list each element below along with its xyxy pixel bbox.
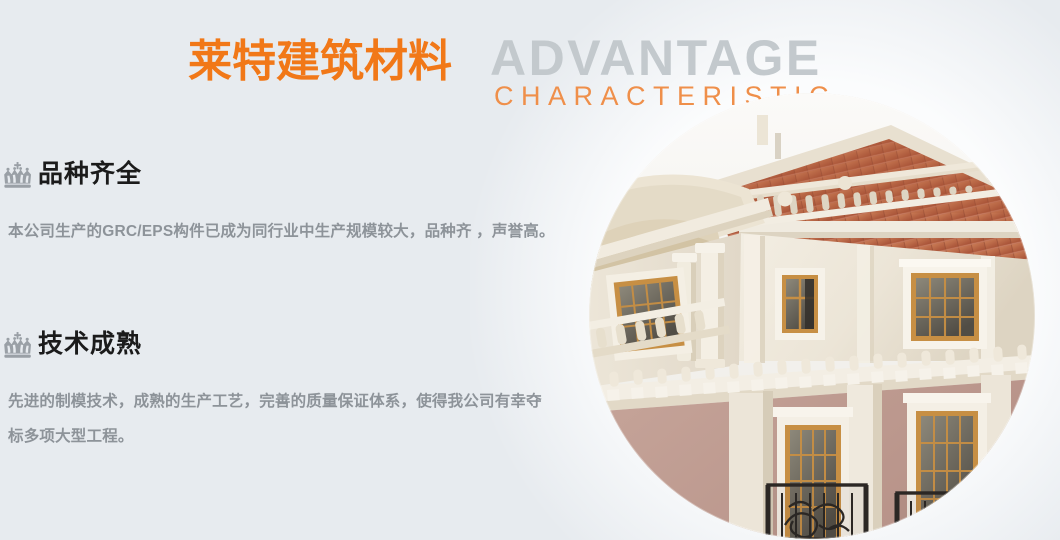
title-english: ADVANTAGE xyxy=(490,33,822,83)
feature-1-body: 本公司生产的GRC/EPS构件已成为同行业中生产规模较大，品种齐 ，声誉高。 xyxy=(8,214,556,249)
title-chinese: 莱特建筑材料 xyxy=(188,40,452,84)
villa-photo xyxy=(589,93,1035,539)
crown-icon xyxy=(2,332,34,360)
villa-illustration xyxy=(589,93,1035,539)
feature-block-1: 品种齐全 本公司生产的GRC/EPS构件已成为同行业中生产规模较大，品种齐 ，声… xyxy=(0,158,570,198)
feature-block-2: 技术成熟 先进的制模技术，成熟的生产工艺，完善的质量保证体系，使得我公司有幸夺标… xyxy=(0,328,570,368)
advantage-banner: ADVANTAGE CHARACTERISTIC 莱特建筑材料 xyxy=(0,0,1060,540)
feature-1-title: 品种齐全 xyxy=(38,158,142,190)
crown-icon xyxy=(2,162,34,190)
feature-2-body: 先进的制模技术，成熟的生产工艺，完善的质量保证体系，使得我公司有幸夺标多项大型工… xyxy=(8,384,556,454)
banner-header: ADVANTAGE CHARACTERISTIC 莱特建筑材料 xyxy=(0,0,1060,120)
feature-2-header: 技术成熟 xyxy=(0,328,570,368)
feature-1-header: 品种齐全 xyxy=(0,158,570,198)
feature-2-title: 技术成熟 xyxy=(38,328,142,360)
